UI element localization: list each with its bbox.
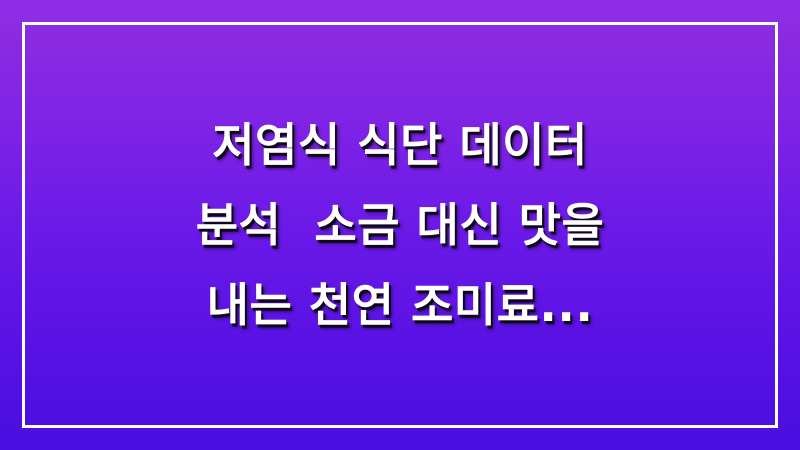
title-line-3: 내는 천연 조미료... bbox=[0, 265, 800, 345]
title-line-2: 분석 소금 대신 맛을 bbox=[0, 185, 800, 265]
title-block: 저염식 식단 데이터 분석 소금 대신 맛을 내는 천연 조미료... bbox=[0, 0, 800, 450]
thumbnail-card: 저염식 식단 데이터 분석 소금 대신 맛을 내는 천연 조미료... bbox=[0, 0, 800, 450]
title-line-1: 저염식 식단 데이터 bbox=[0, 105, 800, 185]
